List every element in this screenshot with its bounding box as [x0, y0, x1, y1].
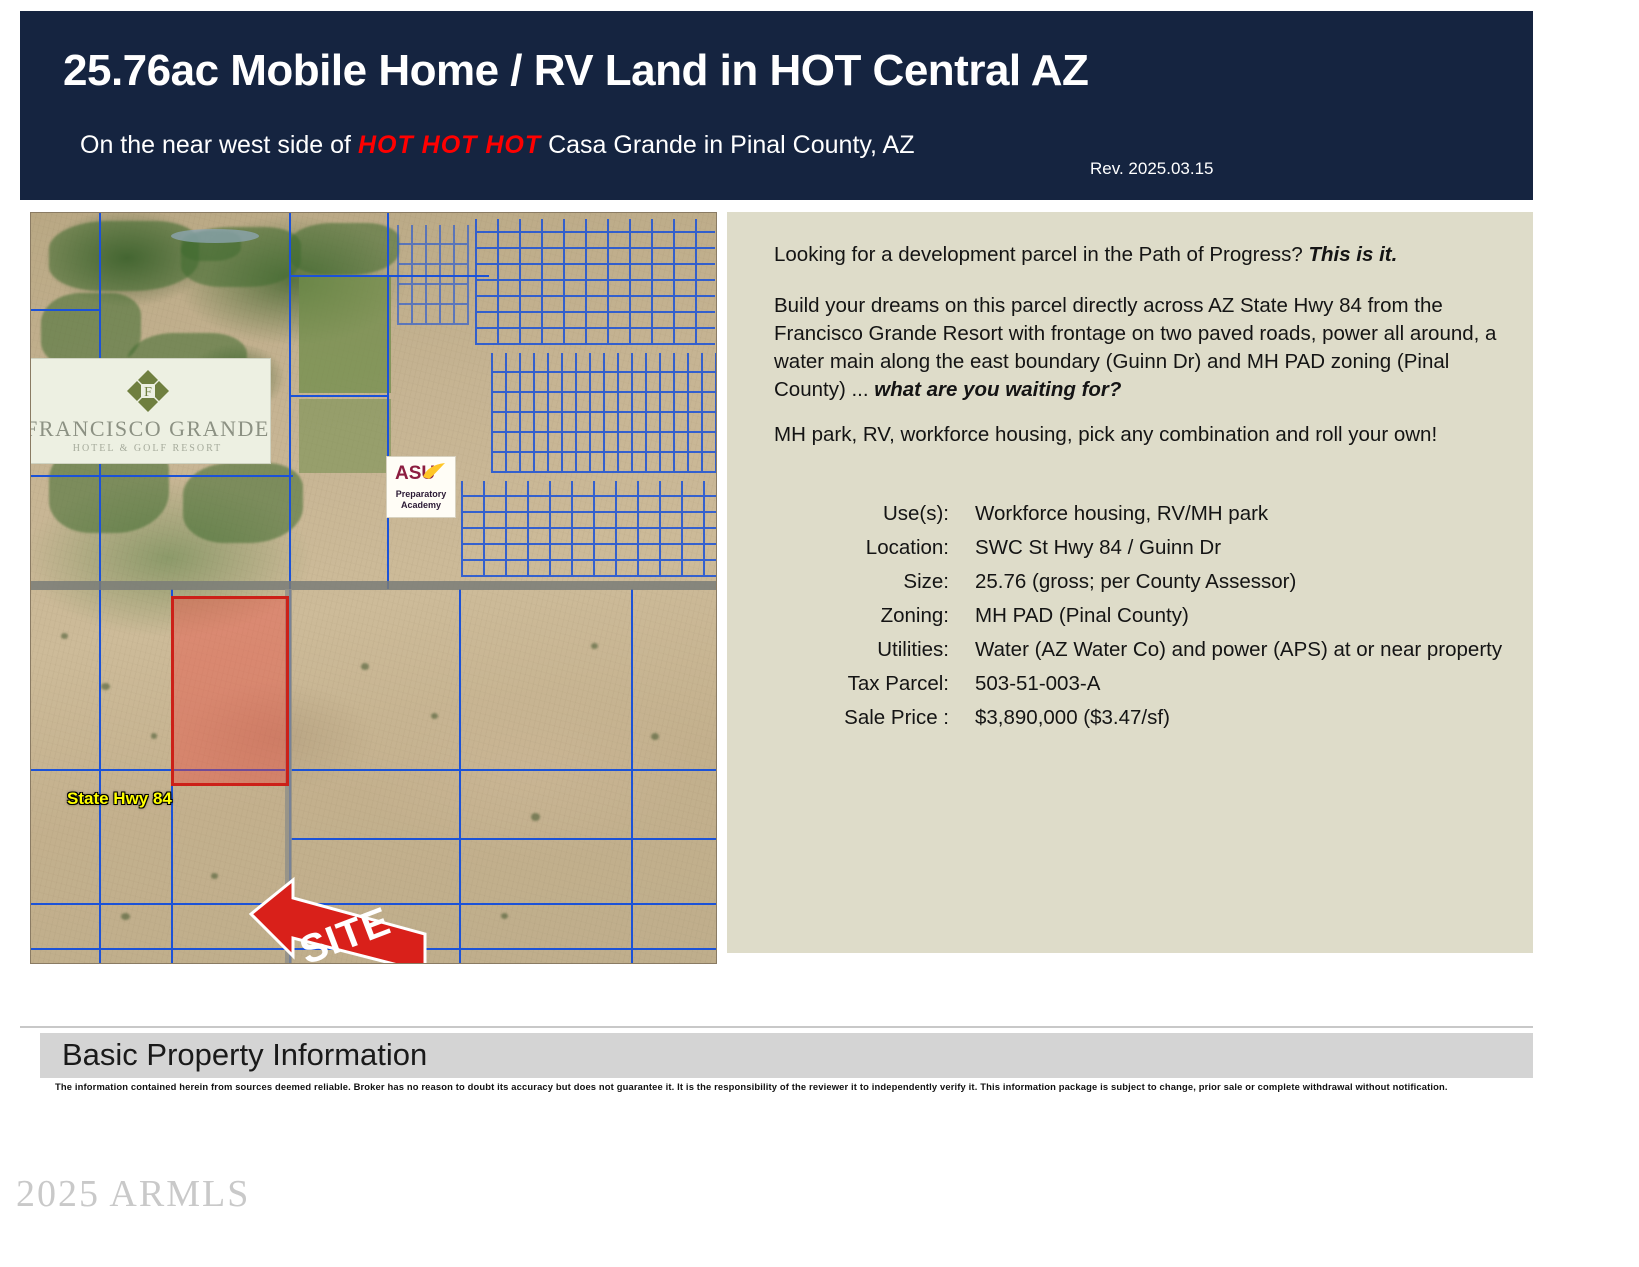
- map-vegetation: [651, 733, 659, 740]
- subtitle-text-before: On the near west side of: [80, 131, 358, 159]
- map-subdivision-block: [475, 219, 715, 345]
- spec-value: $3,890,000 ($3.47/sf): [949, 706, 1170, 730]
- map-parcel-line: [31, 769, 717, 771]
- spec-value: 503-51-003-A: [949, 672, 1100, 696]
- intro-lead-text: Looking for a development parcel in the …: [774, 243, 1308, 266]
- map-green-area: [41, 293, 141, 368]
- map-parcel-line: [459, 589, 461, 964]
- uses-paragraph: MH park, RV, workforce housing, pick any…: [774, 421, 1514, 449]
- map-subdivision-block: [461, 481, 717, 577]
- section-header-bar: Basic Property Information: [40, 1033, 1533, 1078]
- header-banner: 25.76ac Mobile Home / RV Land in HOT Cen…: [20, 11, 1533, 200]
- asu-prep-callout: ASU Preparatory Academy: [386, 456, 456, 518]
- map-highway-band: [31, 581, 717, 590]
- revision-date: Rev. 2025.03.15: [1090, 159, 1214, 179]
- map-parcel-line: [631, 589, 633, 964]
- spec-label: Sale Price :: [802, 706, 949, 730]
- asu-line-1: Preparatory: [387, 489, 455, 500]
- asu-line-2: Academy: [387, 500, 455, 511]
- map-subdivision-block: [491, 353, 717, 473]
- spec-value: 25.76 (gross; per County Assessor): [949, 570, 1296, 594]
- spec-row: Zoning: MH PAD (Pinal County): [802, 604, 1522, 638]
- description-paragraph: Build your dreams on this parcel directl…: [774, 292, 1504, 404]
- map-parcel-line: [31, 309, 99, 311]
- francisco-grande-name: FRANCISCO GRANDE: [30, 416, 270, 442]
- spec-value: MH PAD (Pinal County): [949, 604, 1189, 628]
- francisco-grande-callout: F FRANCISCO GRANDE HOTEL & GOLF RESORT: [30, 358, 271, 464]
- map-label-highway: State Hwy 84: [67, 789, 172, 809]
- spec-value: Workforce housing, RV/MH park: [949, 502, 1268, 526]
- spec-row: Use(s): Workforce housing, RV/MH park: [802, 502, 1522, 536]
- aerial-map[interactable]: State Hwy 84 Guinn Dr SITE F FRANCISCO G…: [30, 212, 717, 964]
- map-parcel-line: [31, 948, 717, 950]
- property-spec-table: Use(s): Workforce housing, RV/MH park Lo…: [802, 502, 1522, 740]
- spec-label: Tax Parcel:: [802, 672, 949, 696]
- francisco-grande-logo-icon: F: [126, 369, 170, 413]
- spec-value: SWC St Hwy 84 / Guinn Dr: [949, 536, 1221, 560]
- map-water-feature: [171, 229, 259, 243]
- map-parcel-line: [387, 213, 389, 589]
- map-vegetation: [121, 913, 130, 920]
- francisco-grande-subtitle: HOTEL & GOLF RESORT: [30, 443, 270, 454]
- spec-row: Location: SWC St Hwy 84 / Guinn Dr: [802, 536, 1522, 570]
- property-info-panel: Looking for a development parcel in the …: [727, 212, 1533, 953]
- map-vegetation: [431, 713, 438, 719]
- map-vegetation: [101, 683, 110, 690]
- header-subtitle: On the near west side of HOT HOT HOT Cas…: [80, 131, 915, 160]
- map-vegetation: [211, 873, 218, 879]
- asu-logo-icon: ASU: [393, 461, 449, 483]
- armls-watermark: 2025 ARMLS: [16, 1172, 250, 1216]
- map-parcel-line: [291, 838, 717, 840]
- map-vegetation: [531, 813, 540, 821]
- spec-label: Size:: [802, 570, 949, 594]
- spec-label: Utilities:: [802, 638, 949, 662]
- svg-text:F: F: [144, 385, 152, 400]
- map-vegetation: [361, 663, 369, 670]
- spec-row: Tax Parcel: 503-51-003-A: [802, 672, 1522, 706]
- map-field: [299, 275, 391, 393]
- spec-label: Use(s):: [802, 502, 949, 526]
- map-field: [299, 399, 391, 473]
- page-title: 25.76ac Mobile Home / RV Land in HOT Cen…: [63, 46, 1088, 96]
- spec-value: Water (AZ Water Co) and power (APS) at o…: [949, 638, 1502, 662]
- map-vegetation: [591, 643, 598, 649]
- site-parcel-highlight[interactable]: [171, 596, 289, 786]
- hot-emphasis-text: HOT HOT HOT: [358, 131, 541, 159]
- intro-bold-text: This is it.: [1308, 243, 1397, 266]
- map-green-area: [289, 223, 399, 275]
- legal-disclaimer: The information contained herein from so…: [55, 1081, 1535, 1092]
- map-vegetation: [151, 733, 157, 739]
- spec-row: Sale Price : $3,890,000 ($3.47/sf): [802, 706, 1522, 740]
- spec-row: Utilities: Water (AZ Water Co) and power…: [802, 638, 1522, 672]
- spec-label: Zoning:: [802, 604, 949, 628]
- spec-row: Size: 25.76 (gross; per County Assessor): [802, 570, 1522, 604]
- map-parcel-line: [289, 395, 389, 397]
- map-vegetation: [381, 933, 389, 939]
- map-parcel-line: [31, 475, 293, 477]
- map-vegetation: [61, 633, 68, 639]
- map-parcel-line: [31, 903, 717, 905]
- subtitle-text-after: Casa Grande in Pinal County, AZ: [541, 131, 914, 159]
- section-title: Basic Property Information: [62, 1037, 427, 1073]
- intro-paragraph: Looking for a development parcel in the …: [774, 241, 1514, 269]
- map-subdivision-block: [397, 225, 469, 325]
- map-vegetation: [501, 913, 508, 919]
- section-divider: [20, 1026, 1533, 1028]
- description-bold-text: what are you waiting for?: [874, 378, 1121, 401]
- spec-label: Location:: [802, 536, 949, 560]
